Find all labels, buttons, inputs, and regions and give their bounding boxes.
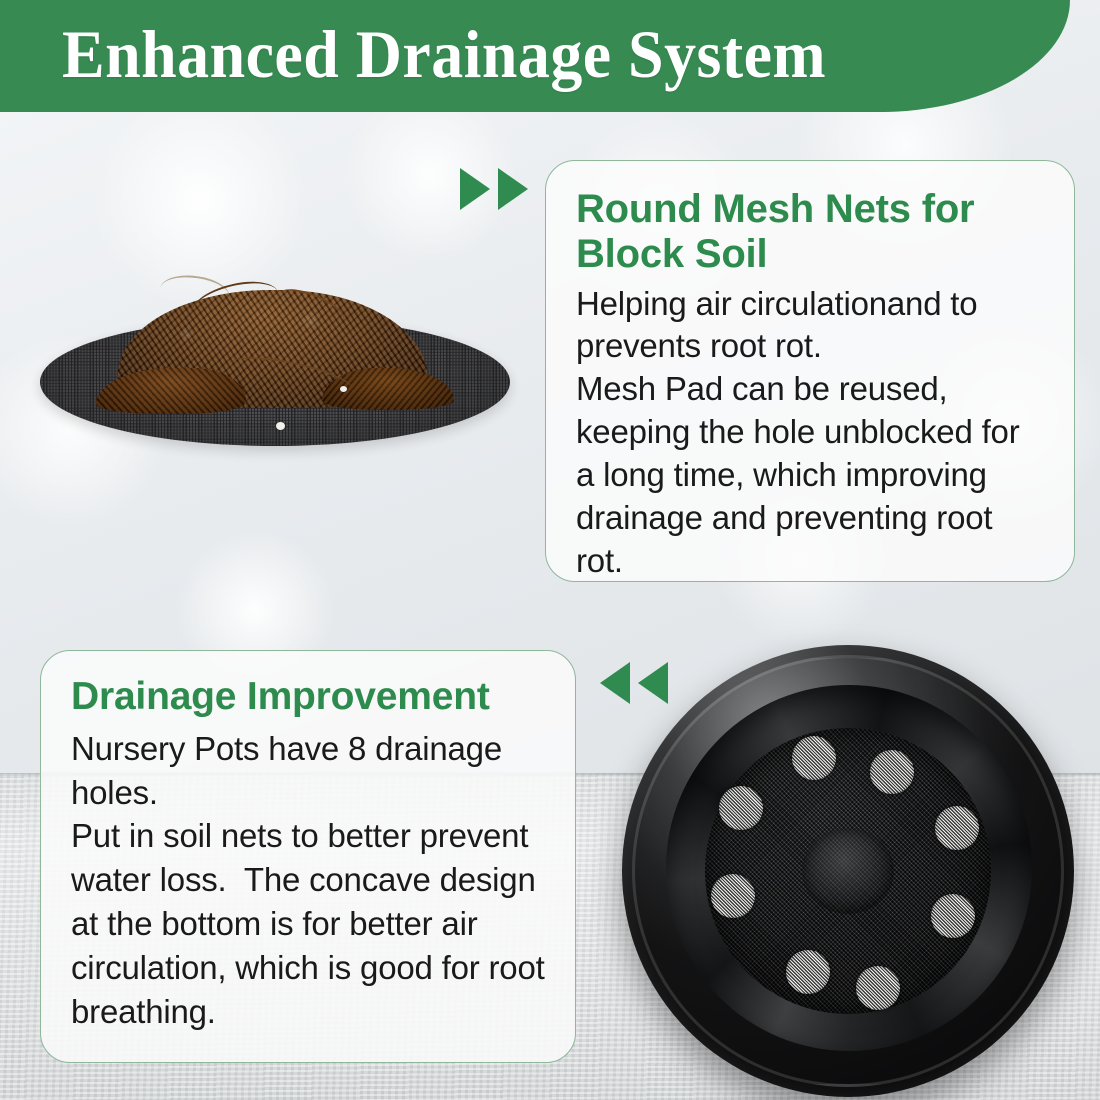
- feature-card-drainage-improvement: Drainage Improvement Nursery Pots have 8…: [40, 650, 576, 1063]
- round-mesh-net-with-soil-photo: [40, 290, 510, 450]
- left-arrow-icon: [638, 662, 668, 704]
- page-title-text: Enhanced Drainage System: [62, 15, 826, 94]
- perlite-granule: [340, 386, 347, 392]
- feature-card-body: Nursery Pots have 8 drainage holes. Put …: [71, 727, 547, 1034]
- drainage-hole: [931, 894, 975, 938]
- drainage-hole: [792, 736, 836, 780]
- right-arrow-icon: [460, 168, 490, 210]
- feature-card-title: Drainage Improvement: [71, 675, 547, 719]
- drainage-hole: [856, 966, 900, 1010]
- right-arrow-icon: [498, 168, 528, 210]
- perlite-granule: [276, 422, 285, 430]
- header-banner: Enhanced Drainage System: [0, 0, 1070, 112]
- page-title: Enhanced Drainage System: [62, 15, 875, 94]
- feature-card-body: Helping air circulationand to prevents r…: [576, 283, 1044, 583]
- drainage-hole: [935, 806, 979, 850]
- feature-card-round-mesh-nets: Round Mesh Nets for Block Soil Helping a…: [545, 160, 1075, 582]
- drainage-hole: [786, 950, 830, 994]
- pot-concave-hub: [802, 828, 894, 914]
- drainage-hole: [719, 786, 763, 830]
- double-left-arrow-icon: [600, 662, 668, 704]
- left-arrow-icon: [600, 662, 630, 704]
- double-right-arrow-icon: [460, 168, 528, 210]
- drainage-hole: [870, 750, 914, 794]
- feature-card-title: Round Mesh Nets for Block Soil: [576, 187, 1044, 277]
- nursery-pot-photo: [622, 645, 1074, 1097]
- soil-mound: [118, 290, 428, 408]
- drainage-hole: [711, 874, 755, 918]
- pot-mesh-pad: [705, 728, 991, 1014]
